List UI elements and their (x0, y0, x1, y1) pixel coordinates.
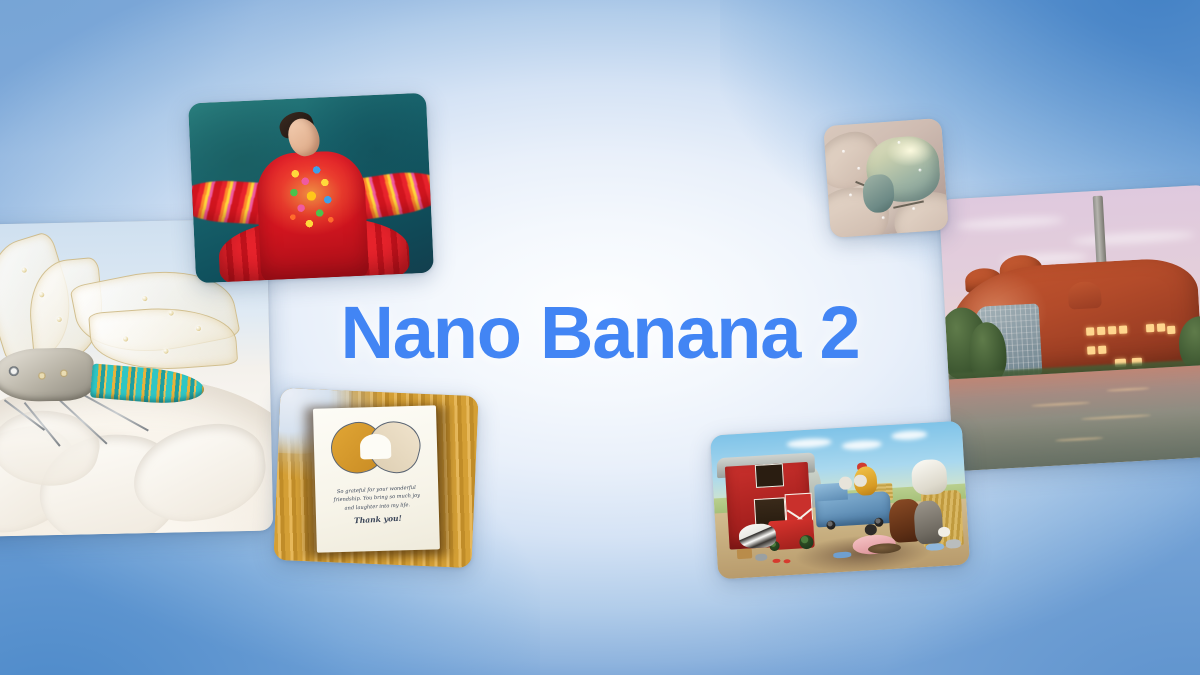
cloud (956, 215, 1064, 231)
gallery-card-beetle[interactable] (823, 118, 949, 238)
cloud (842, 440, 883, 451)
hero-stage: So grateful for your wonderful friendshi… (0, 0, 1200, 675)
page-title: Nano Banana 2 (0, 296, 1200, 370)
card-message-line-3: and laughter into my life. (344, 503, 410, 513)
heart-notch (359, 434, 391, 459)
farm-scene (710, 421, 970, 580)
dew-drop (857, 166, 860, 169)
dress-embroidery (283, 162, 340, 236)
barn-loft-window (755, 463, 784, 488)
card-message: So grateful for your wonderful friendshi… (324, 484, 429, 530)
thank-you-scene: So grateful for your wonderful friendshi… (273, 388, 478, 568)
feed-trough (833, 551, 851, 558)
beetle-head (862, 173, 895, 213)
card-signoff: Thank you! (326, 512, 430, 530)
donkey (913, 500, 943, 545)
cloud (786, 437, 832, 449)
gallery-card-farm[interactable] (710, 421, 970, 580)
crate (737, 548, 753, 559)
beetle-scene (823, 118, 949, 238)
hands-heart-illustration (328, 418, 423, 481)
lake-reflection (949, 364, 1200, 471)
greeting-card-paper: So grateful for your wonderful friendshi… (313, 406, 440, 554)
cloud (1070, 229, 1195, 246)
gallery-card-thank-you[interactable]: So grateful for your wonderful friendshi… (273, 388, 478, 568)
cow (738, 523, 777, 550)
gallery-card-dancer[interactable] (188, 93, 434, 284)
cloud (891, 430, 927, 441)
dew-drop (841, 149, 844, 152)
goat (911, 459, 948, 496)
bucket (946, 539, 962, 549)
dancer-scene (188, 93, 434, 284)
small-cow-toy (839, 476, 852, 490)
